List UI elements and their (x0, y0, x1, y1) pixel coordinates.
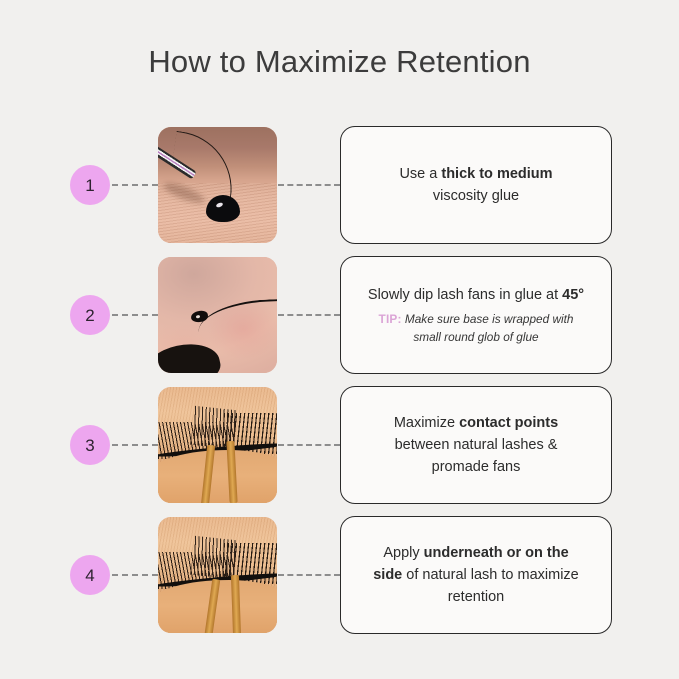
step-number-label-3: 3 (85, 437, 94, 454)
step-card-2-tip-line-2: small round glob of glue (413, 329, 538, 347)
step-row-4: 4 Apply underneath or on the side of nat… (0, 516, 679, 634)
step-number-badge-2: 2 (70, 295, 110, 335)
step-4-text-suffix: of natural lash to maximize (402, 567, 579, 583)
step-photo-1 (158, 127, 277, 243)
connector-dash-right-4 (278, 574, 340, 576)
connector-dash-right-2 (278, 314, 340, 316)
connector-dash-right-3 (278, 444, 340, 446)
step-card-4-line-1: Apply underneath or on the (383, 542, 568, 564)
step-4-text-prefix: Apply (383, 545, 423, 561)
step-card-3-line-3: promade fans (432, 456, 521, 478)
step-number-label-4: 4 (85, 567, 94, 584)
infographic-page: How to Maximize Retention 1 Use a thick … (0, 0, 679, 679)
connector-dash-right-1 (278, 184, 340, 186)
step-card-2-line-1: Slowly dip lash fans in glue at 45° (368, 284, 584, 306)
connector-dash-left-3 (112, 444, 158, 446)
step-1-text-bold: thick to medium (441, 166, 552, 182)
photo-4-promade-fan (190, 536, 238, 580)
step-card-3-line-1: Maximize contact points (394, 412, 558, 434)
step-card-4-line-3: retention (448, 586, 504, 608)
step-card-3-line-2: between natural lashes & (395, 434, 558, 456)
step-card-2: Slowly dip lash fans in glue at 45° TIP:… (340, 256, 612, 374)
step-row-3: 3 Maximize contact points between natura… (0, 386, 679, 504)
step-card-1-line-1: Use a thick to medium (399, 163, 552, 185)
step-4-text-bold-1: underneath or on the (424, 545, 569, 561)
step-number-badge-3: 3 (70, 425, 110, 465)
step-photo-4 (158, 517, 277, 633)
step-row-1: 1 Use a thick to medium viscosity glue (0, 126, 679, 244)
step-1-text-prefix: Use a (399, 166, 441, 182)
step-photo-3 (158, 387, 277, 503)
step-card-4: Apply underneath or on the side of natur… (340, 516, 612, 634)
step-2-text-prefix: Slowly dip lash fans in glue at (368, 287, 562, 303)
step-2-text-bold: 45° (562, 287, 584, 303)
step-photo-2 (158, 257, 277, 373)
step-4-text-bold-2: side (373, 567, 402, 583)
step-card-2-tip-line-1: TIP: Make sure base is wrapped with (379, 311, 574, 329)
step-number-label-1: 1 (85, 177, 94, 194)
step-3-text-bold: contact points (459, 415, 558, 431)
step-card-1: Use a thick to medium viscosity glue (340, 126, 612, 244)
connector-dash-left-1 (112, 184, 158, 186)
step-3-text-prefix: Maximize (394, 415, 459, 431)
photo-3-eyelid (158, 450, 277, 503)
step-row-2: 2 Slowly dip lash fans in glue at 45° TI… (0, 256, 679, 374)
connector-dash-left-4 (112, 574, 158, 576)
step-card-3: Maximize contact points between natural … (340, 386, 612, 504)
step-card-1-line-2: viscosity glue (433, 185, 519, 207)
page-title: How to Maximize Retention (0, 44, 679, 80)
step-card-4-line-2: side of natural lash to maximize (373, 564, 579, 586)
tip-text-line-1: Make sure base is wrapped with (405, 312, 574, 326)
step-number-label-2: 2 (85, 307, 94, 324)
connector-dash-left-2 (112, 314, 158, 316)
photo-1-glue-drop (206, 195, 240, 222)
tip-label: TIP: (379, 312, 402, 326)
step-number-badge-4: 4 (70, 555, 110, 595)
step-number-badge-1: 1 (70, 165, 110, 205)
